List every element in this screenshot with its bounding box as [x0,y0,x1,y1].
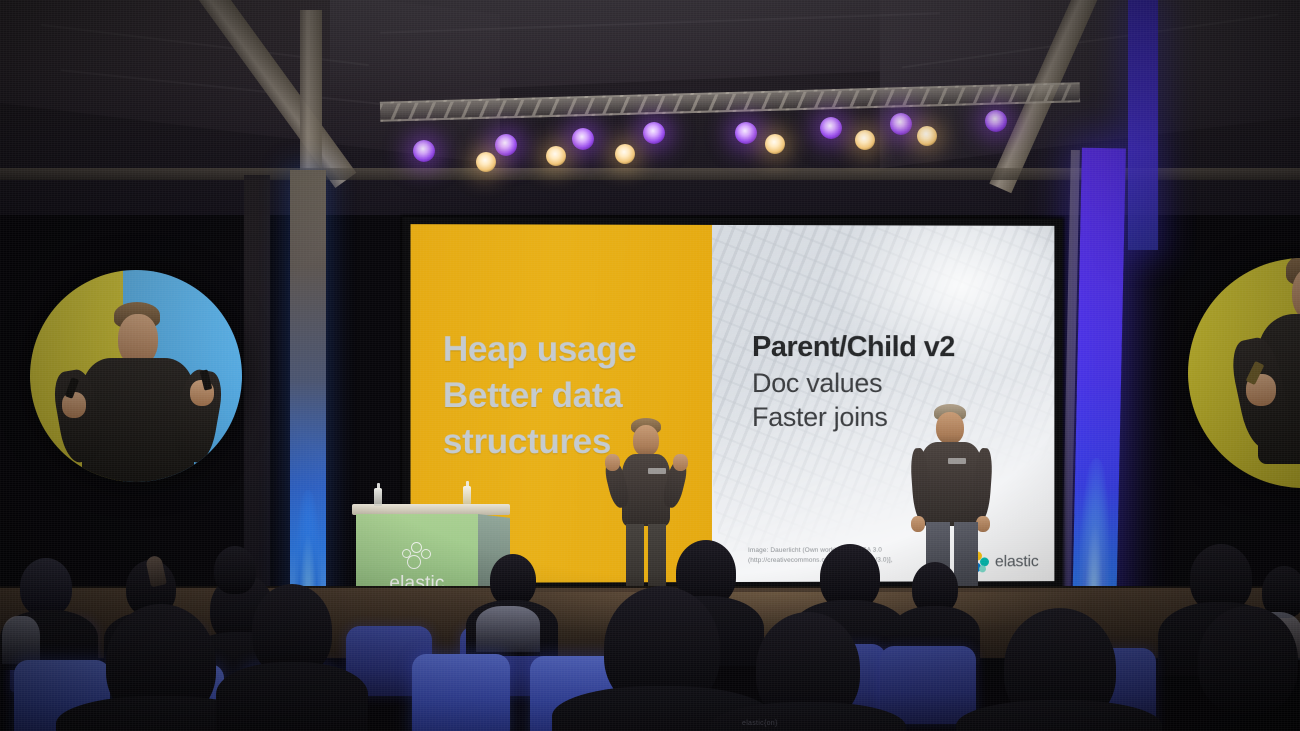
chair [412,654,510,731]
stage-light-violet [643,122,665,144]
presenter-left-torso [622,454,670,526]
chair [880,646,976,724]
lanyard-badge-text: elastic{on} [742,720,778,727]
audience: elastic{on} [0,520,1300,731]
audience-shirt-highlight [476,606,540,652]
stage-light-warm [476,152,496,172]
slide-bullet-1: Doc values [752,366,955,400]
presenter-left-hand-left [673,454,688,471]
stage-light-violet [985,110,1007,132]
slide-left-line-2: Better data [443,373,637,419]
water-bottle-left [374,488,382,506]
roof-panel-right [880,0,1300,168]
audience-head [214,546,256,594]
side-screen-right-presenter [1188,258,1300,488]
side-screen-left-presenter [30,270,242,482]
stage-light-warm [546,146,566,166]
presenter-right-shirt-logo [948,458,966,464]
stage-light-warm [765,134,785,154]
stage-light-violet [413,140,435,162]
presenter-left-shirt-logo [648,468,666,474]
stage-light-violet [572,128,594,150]
audience-head [490,554,536,606]
stage-column-far-right [1128,0,1158,250]
stage-light-violet [820,117,842,139]
audience-head-foreground [1198,606,1298,714]
audience-head [20,558,72,616]
water-bottle-right [463,486,471,504]
stage-light-warm [917,126,937,146]
audience-shirt-highlight [2,616,40,664]
stage-light-warm [615,144,635,164]
stage-light-warm [855,130,875,150]
slide-heading: Parent/Child v2 [752,329,955,366]
presenter-left-head [633,425,659,456]
stage-light-violet [890,113,912,135]
presenter-right-torso [920,442,982,526]
presenter-left-hand-right [605,454,620,471]
stage-light-violet [735,122,757,144]
side-screen-right [1188,258,1300,488]
conference-stage-photo: Heap usage Better data structures Parent… [0,0,1300,731]
audience-shoulders-foreground [216,662,368,731]
slide-left-line-1: Heap usage [443,327,637,373]
stage-light-violet [495,134,517,156]
presenter-right-head [936,412,964,444]
side-screen-left [30,270,242,482]
